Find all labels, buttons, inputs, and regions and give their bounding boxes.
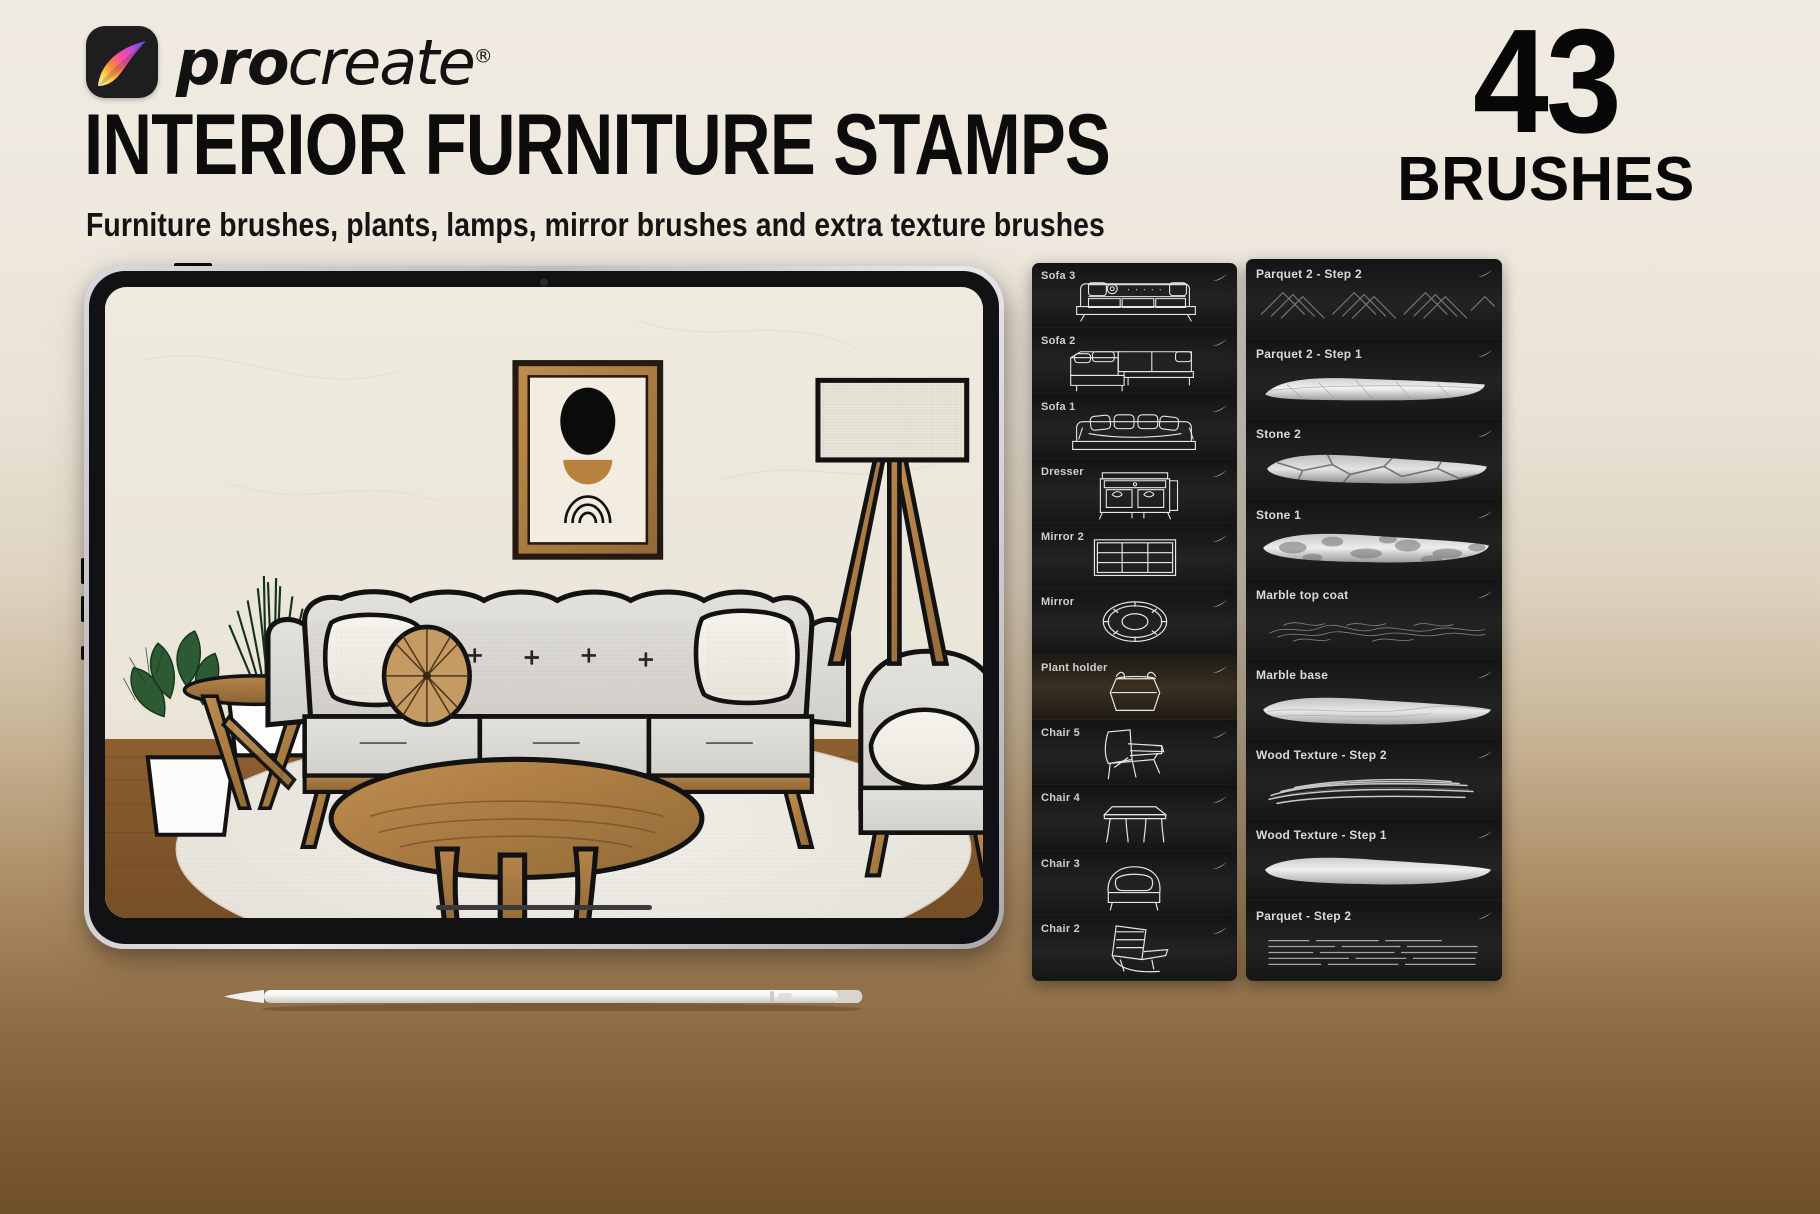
tablet-screen[interactable] xyxy=(105,287,983,918)
plant-pot-front xyxy=(148,757,234,834)
brush-item[interactable]: Wood Texture - Step 2 xyxy=(1246,740,1502,820)
brush-stroke-mark-icon xyxy=(1477,831,1493,839)
brush-count-number: 43 xyxy=(1353,18,1739,145)
brand-name-bold: pro xyxy=(176,26,288,99)
brush-stroke-mark-icon xyxy=(1212,600,1228,608)
home-indicator[interactable] xyxy=(436,905,652,910)
brush-stroke-mark-icon xyxy=(1212,796,1228,804)
brush-label: Mirror xyxy=(1041,596,1074,608)
header: procreate® INTERIOR FURNITURE STAMPS Fur… xyxy=(0,0,1820,262)
brush-label: Mirror 2 xyxy=(1041,531,1084,543)
brush-label: Parquet 2 - Step 1 xyxy=(1256,347,1362,361)
brush-stroke-mark-icon xyxy=(1212,470,1228,478)
registered-trademark-icon: ® xyxy=(474,45,491,67)
brush-item[interactable]: Chair 4 xyxy=(1032,785,1237,850)
brush-label: Chair 2 xyxy=(1041,923,1080,935)
procreate-logo-icon xyxy=(86,26,158,98)
brush-stroke-mark-icon xyxy=(1477,912,1493,920)
brush-stroke-mark-icon xyxy=(1477,671,1493,679)
front-camera-icon xyxy=(540,278,548,286)
brush-label: Stone 2 xyxy=(1256,427,1301,441)
brush-label: Chair 5 xyxy=(1041,727,1080,739)
brush-item[interactable]: Sofa 3 xyxy=(1032,263,1237,328)
brush-item[interactable]: Wood Texture - Step 1 xyxy=(1246,820,1502,900)
brush-item[interactable]: Marble top coat xyxy=(1246,580,1502,660)
brush-stroke-mark-icon xyxy=(1212,731,1228,739)
brush-stroke-mark-icon xyxy=(1212,927,1228,935)
brush-stroke-mark-icon xyxy=(1477,270,1493,278)
brand-row: procreate® xyxy=(86,26,491,98)
brush-stroke-mark-icon xyxy=(1477,511,1493,519)
brush-label: Plant holder xyxy=(1041,662,1108,674)
brush-stroke-mark-icon xyxy=(1212,862,1228,870)
brush-item[interactable]: Stone 1 xyxy=(1246,500,1502,580)
brush-label: Chair 3 xyxy=(1041,858,1080,870)
brush-item[interactable]: Sofa 2 xyxy=(1032,328,1237,393)
brush-stroke-mark-icon xyxy=(1212,405,1228,413)
apple-pencil[interactable] xyxy=(222,985,882,1011)
brush-stroke-mark-icon xyxy=(1477,430,1493,438)
brush-item[interactable]: Dresser xyxy=(1032,459,1237,524)
brush-label: Dresser xyxy=(1041,466,1084,478)
brush-label: Marble base xyxy=(1256,668,1328,682)
brush-label: Sofa 1 xyxy=(1041,401,1076,413)
brush-label: Wood Texture - Step 2 xyxy=(1256,748,1387,762)
brush-label: Sofa 2 xyxy=(1041,335,1076,347)
brush-item[interactable]: Chair 2 xyxy=(1032,916,1237,981)
furniture-stamps-panel[interactable]: Sofa 3 Sofa 2 xyxy=(1032,263,1237,981)
brush-stroke-mark-icon xyxy=(1477,751,1493,759)
tablet-bezel xyxy=(89,271,999,944)
brush-item[interactable]: Mirror xyxy=(1032,589,1237,654)
page-title: INTERIOR FURNITURE STAMPS xyxy=(84,104,1110,187)
brush-item[interactable]: Chair 3 xyxy=(1032,851,1237,916)
brush-item[interactable]: Parquet 2 - Step 2 xyxy=(1246,259,1502,339)
brush-stroke-mark-icon xyxy=(1477,591,1493,599)
brand-wordmark: procreate® xyxy=(176,32,491,94)
brush-label: Stone 1 xyxy=(1256,508,1301,522)
brush-item[interactable]: Parquet 2 - Step 1 xyxy=(1246,339,1502,419)
living-room-illustration xyxy=(105,287,983,918)
texture-brushes-panel[interactable]: Parquet 2 - Step 2 Parquet 2 - Step 1 xyxy=(1246,259,1502,981)
brush-stroke-mark-icon xyxy=(1477,350,1493,358)
brush-item[interactable]: Chair 5 xyxy=(1032,720,1237,785)
round-wood-pillow xyxy=(384,627,470,725)
brand-name-light: create xyxy=(288,26,474,99)
brush-item[interactable]: Mirror 2 xyxy=(1032,524,1237,589)
throw-pillow-right xyxy=(696,611,797,703)
tablet-device xyxy=(84,266,1018,956)
brush-label: Parquet 2 - Step 2 xyxy=(1256,267,1362,281)
brush-stroke-mark-icon xyxy=(1212,339,1228,347)
tablet-frame xyxy=(84,266,1004,949)
brush-count-label: BRUSHES xyxy=(1342,149,1749,211)
brush-label: Chair 4 xyxy=(1041,792,1080,804)
brush-item[interactable]: Stone 2 xyxy=(1246,419,1502,499)
brush-item[interactable]: Parquet - Step 2 xyxy=(1246,901,1502,981)
framed-wall-art xyxy=(512,360,663,560)
brush-item[interactable]: Plant holder xyxy=(1032,655,1237,720)
brush-stroke-mark-icon xyxy=(1212,535,1228,543)
brush-label: Marble top coat xyxy=(1256,588,1348,602)
brush-stroke-mark-icon xyxy=(1212,274,1228,282)
brush-label: Wood Texture - Step 1 xyxy=(1256,828,1387,842)
brush-count-badge: 43 BRUSHES xyxy=(1336,18,1756,211)
brush-label: Sofa 3 xyxy=(1041,270,1076,282)
page-subtitle: Furniture brushes, plants, lamps, mirror… xyxy=(86,206,1105,244)
brush-label: Parquet - Step 2 xyxy=(1256,909,1351,923)
brush-stroke-mark-icon xyxy=(1212,666,1228,674)
brush-item[interactable]: Sofa 1 xyxy=(1032,394,1237,459)
brush-item[interactable]: Marble base xyxy=(1246,660,1502,740)
